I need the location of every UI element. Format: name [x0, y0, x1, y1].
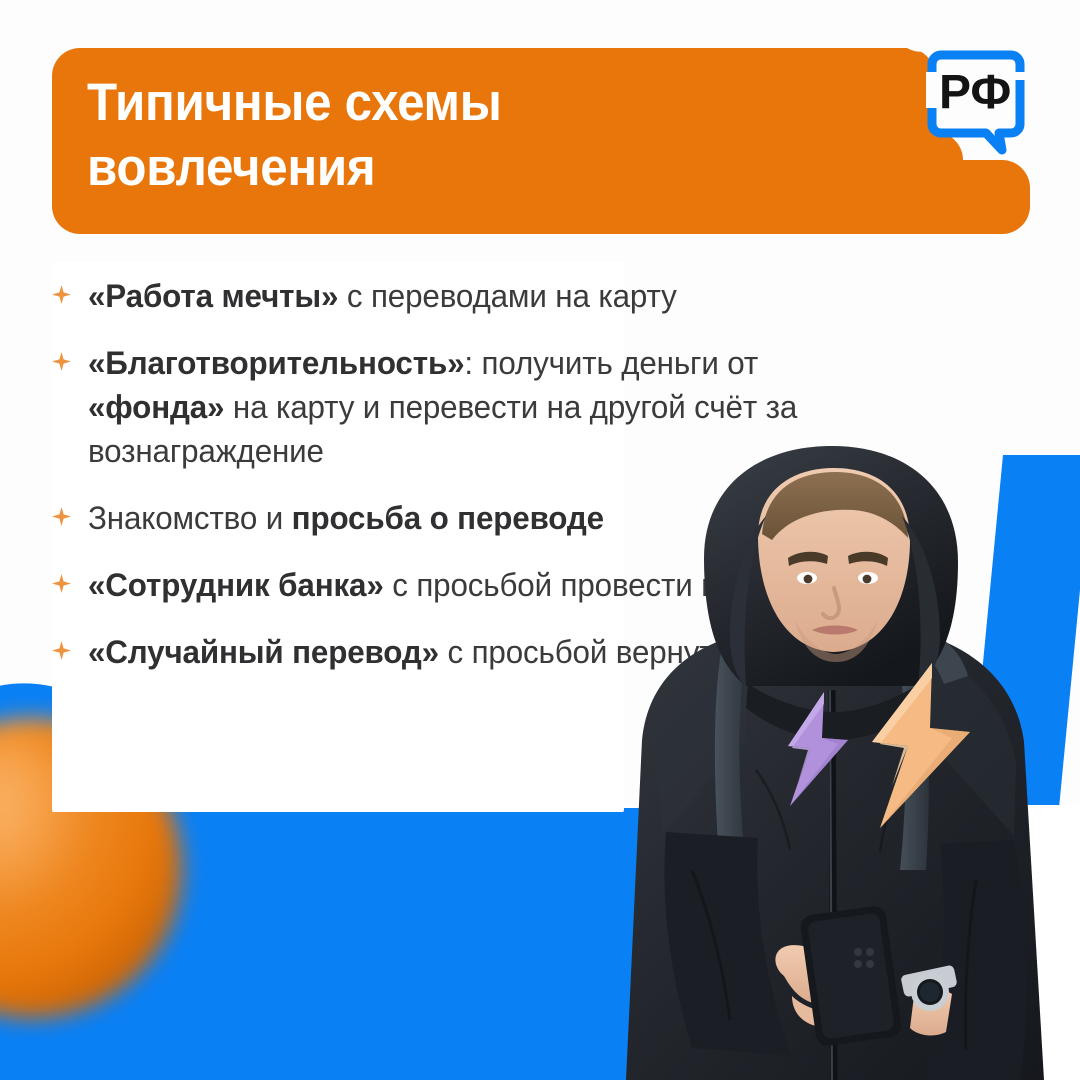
list-item-text: Знакомство и — [88, 500, 292, 536]
diamond-bullet-icon — [52, 341, 88, 371]
list-item-emphasis: «Сотрудник банка» — [88, 567, 384, 603]
list-item-label: «Работа мечты» с переводами на карту — [88, 274, 883, 318]
list-item: «Работа мечты» с переводами на карту — [52, 274, 912, 318]
lightning-bolt-purple — [778, 690, 856, 813]
logo-rf[interactable]: РФ — [922, 46, 1030, 161]
diamond-bullet-icon — [52, 630, 88, 660]
diamond-bullet-glyph — [52, 641, 71, 660]
speech-bubble-icon: РФ — [922, 46, 1030, 161]
diamond-bullet-glyph — [52, 352, 71, 371]
diamond-bullet-glyph — [52, 574, 71, 593]
list-item-emphasis: «Случайный перевод» — [88, 634, 439, 670]
list-item-emphasis: «фонда» — [88, 389, 224, 425]
list-item-emphasis: просьба о переводе — [292, 500, 604, 536]
diamond-bullet-glyph — [52, 285, 71, 304]
list-item-emphasis: «Благотворительность» — [88, 345, 464, 381]
poster-canvas: Типичные схемы вовлечения РФ «Работа меч… — [0, 0, 1080, 1080]
logo-text: РФ — [939, 66, 1011, 119]
page-title: Типичные схемы вовлечения — [87, 70, 738, 200]
list-item-text: : получить деньги от — [464, 345, 758, 381]
diamond-bullet-icon — [52, 563, 88, 593]
lightning-bolt-peach — [860, 660, 980, 837]
list-item-emphasis: «Работа мечты» — [88, 278, 338, 314]
diamond-bullet-glyph — [52, 507, 71, 526]
list-item-text: с переводами на карту — [338, 278, 676, 314]
diamond-bullet-icon — [52, 274, 88, 304]
diamond-bullet-icon — [52, 496, 88, 526]
header-banner: Типичные схемы вовлечения — [52, 48, 1030, 234]
